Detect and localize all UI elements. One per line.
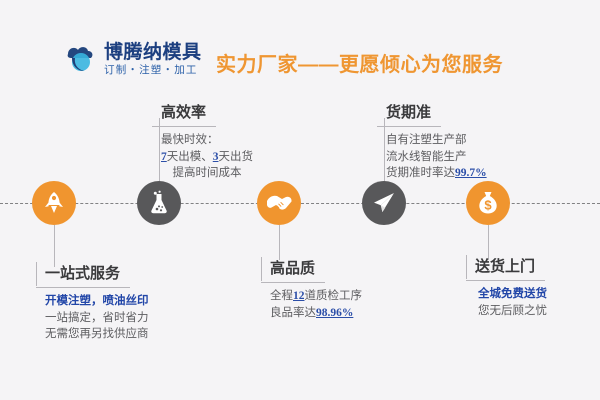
block-door-delivery: 送货上门 全城免费送货 您无后顾之忧	[466, 255, 547, 319]
cloud-droplet-logo-icon	[64, 42, 98, 76]
efficiency-line-3: 提高时间成本	[161, 165, 253, 182]
block-door-delivery-body: 全城免费送货 您无后顾之忧	[466, 281, 547, 319]
quality-yield-rate: 98.96%	[316, 307, 353, 319]
timeline-node-delivery-time[interactable]	[362, 181, 406, 225]
block-delivery-time: 货期准 自有注塑生产部 流水线智能生产 货期准时率达99.7%	[377, 101, 487, 182]
one-stop-line-2: 一站搞定，省时省力	[45, 310, 149, 327]
quality-inspection-count: 12	[293, 290, 305, 302]
paper-plane-icon	[371, 190, 397, 216]
delivery-time-line-2: 流水线智能生产	[386, 149, 487, 166]
timeline-node-efficiency[interactable]	[137, 181, 181, 225]
efficiency-line-2: 7天出模、3天出货	[161, 149, 253, 166]
block-delivery-time-body: 自有注塑生产部 流水线智能生产 货期准时率达99.7%	[377, 127, 487, 182]
efficiency-line-1: 最快时效：	[161, 132, 253, 149]
infographic-canvas: 博腾纳模具 订制・注塑・加工 实力厂家——更愿倾心为您服务	[0, 0, 600, 400]
block-one-stop-heading: 一站式服务	[36, 262, 130, 288]
block-quality: 高品质 全程12道质检工序 良品率达98.96%	[261, 257, 362, 321]
company-logo: 博腾纳模具 订制・注塑・加工	[64, 42, 202, 76]
block-one-stop-body: 开模注塑，喷油丝印 一站搞定，省时省力 无需您再另找供应商	[36, 288, 149, 343]
efficiency-line-2-post: 天出货	[219, 151, 254, 163]
stem-quality	[279, 225, 280, 260]
handshake-icon	[265, 190, 293, 216]
block-one-stop: 一站式服务 开模注塑，喷油丝印 一站搞定，省时省力 无需您再另找供应商	[36, 262, 149, 343]
quality-line-2: 良品率达98.96%	[270, 305, 362, 322]
flask-icon	[146, 190, 172, 216]
block-quality-rule	[261, 257, 262, 281]
delivery-time-rate: 99.7%	[455, 167, 487, 179]
logo-subtitle: 订制・注塑・加工	[104, 65, 202, 76]
page-title: 实力厂家——更愿倾心为您服务	[216, 48, 503, 77]
delivery-time-line-3-pre: 货期准时率达	[386, 167, 455, 179]
block-quality-body: 全程12道质检工序 良品率达98.96%	[261, 283, 362, 321]
one-stop-line-1: 开模注塑，喷油丝印	[45, 293, 149, 310]
quality-line-2-pre: 良品率达	[270, 307, 316, 319]
quality-line-1-post: 道质检工序	[305, 290, 363, 302]
block-one-stop-rule	[36, 262, 37, 286]
block-delivery-time-heading: 货期准	[377, 101, 441, 127]
money-bag-icon: $	[475, 190, 501, 216]
logo-company-name: 博腾纳模具	[104, 43, 202, 62]
svg-text:$: $	[484, 198, 492, 213]
door-delivery-line-2: 您无后顾之忧	[478, 303, 547, 320]
door-delivery-line-1: 全城免费送货	[478, 286, 547, 303]
block-efficiency-heading: 高效率	[152, 101, 216, 127]
quality-line-1: 全程12道质检工序	[270, 288, 362, 305]
timeline-node-quality[interactable]	[257, 181, 301, 225]
stem-one-stop	[54, 225, 55, 267]
efficiency-line-2-mid: 天出模、	[167, 151, 213, 163]
one-stop-line-3: 无需您再另找供应商	[45, 326, 149, 343]
block-door-delivery-rule	[466, 255, 467, 279]
quality-line-1-pre: 全程	[270, 290, 293, 302]
rocket-icon	[41, 190, 67, 216]
block-efficiency-body: 最快时效： 7天出模、3天出货 提高时间成本	[152, 127, 253, 182]
block-efficiency: 高效率 最快时效： 7天出模、3天出货 提高时间成本	[152, 101, 253, 182]
block-quality-heading: 高品质	[261, 257, 325, 283]
timeline-node-one-stop[interactable]	[32, 181, 76, 225]
timeline-node-door-delivery[interactable]: $	[466, 181, 510, 225]
delivery-time-line-3: 货期准时率达99.7%	[386, 165, 487, 182]
block-door-delivery-heading: 送货上门	[466, 255, 545, 281]
delivery-time-line-1: 自有注塑生产部	[386, 132, 487, 149]
